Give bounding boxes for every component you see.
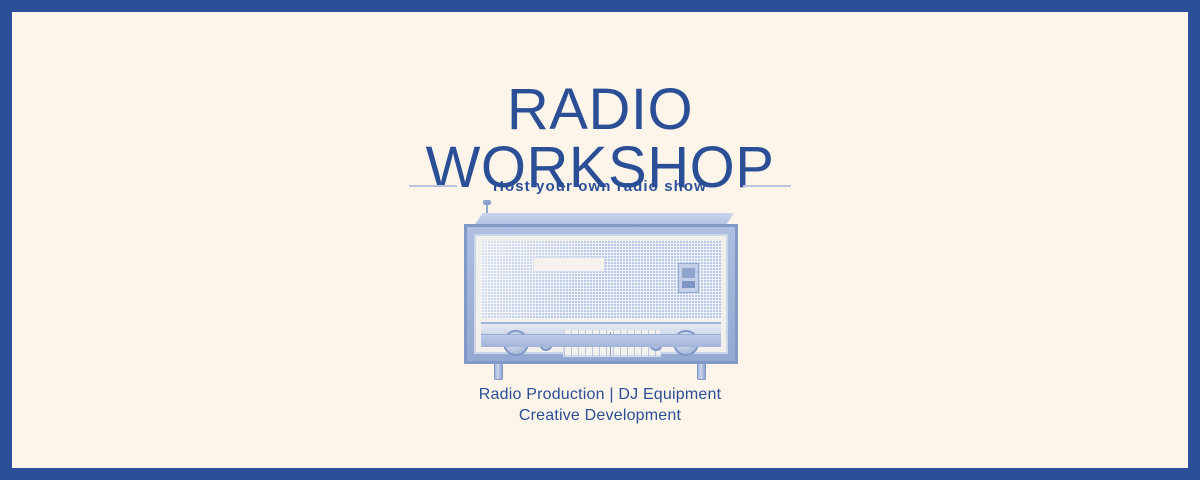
- footer-line-2: Creative Development: [12, 405, 1188, 426]
- grille-badge-icon: [678, 263, 699, 293]
- radio-foot-left: [494, 363, 503, 380]
- grille-nameplate: [533, 257, 605, 272]
- poster-frame: RADIO WORKSHOP Host your own radio show: [0, 0, 1200, 480]
- poster-canvas: RADIO WORKSHOP Host your own radio show: [12, 12, 1188, 468]
- illustration-stage: [12, 202, 1188, 387]
- panel-base-trim: [481, 334, 721, 347]
- subtitle-row: Host your own radio show: [12, 172, 1188, 200]
- antenna-tip-icon: [483, 200, 491, 205]
- subtitle-text: Host your own radio show: [493, 178, 707, 195]
- footer-text: Radio Production | DJ Equipment Creative…: [12, 384, 1188, 426]
- divider-rule-left: [409, 185, 457, 187]
- title-line-1: RADIO: [507, 77, 693, 142]
- divider-rule-right: [743, 185, 791, 187]
- speaker-grille: [481, 241, 721, 319]
- radio-cabinet-inner: [474, 234, 728, 354]
- radio-cabinet: [464, 224, 738, 364]
- vintage-radio-illustration: [450, 202, 750, 382]
- control-panel: [481, 322, 721, 347]
- footer-line-1: Radio Production | DJ Equipment: [12, 384, 1188, 405]
- radio-foot-right: [697, 363, 706, 380]
